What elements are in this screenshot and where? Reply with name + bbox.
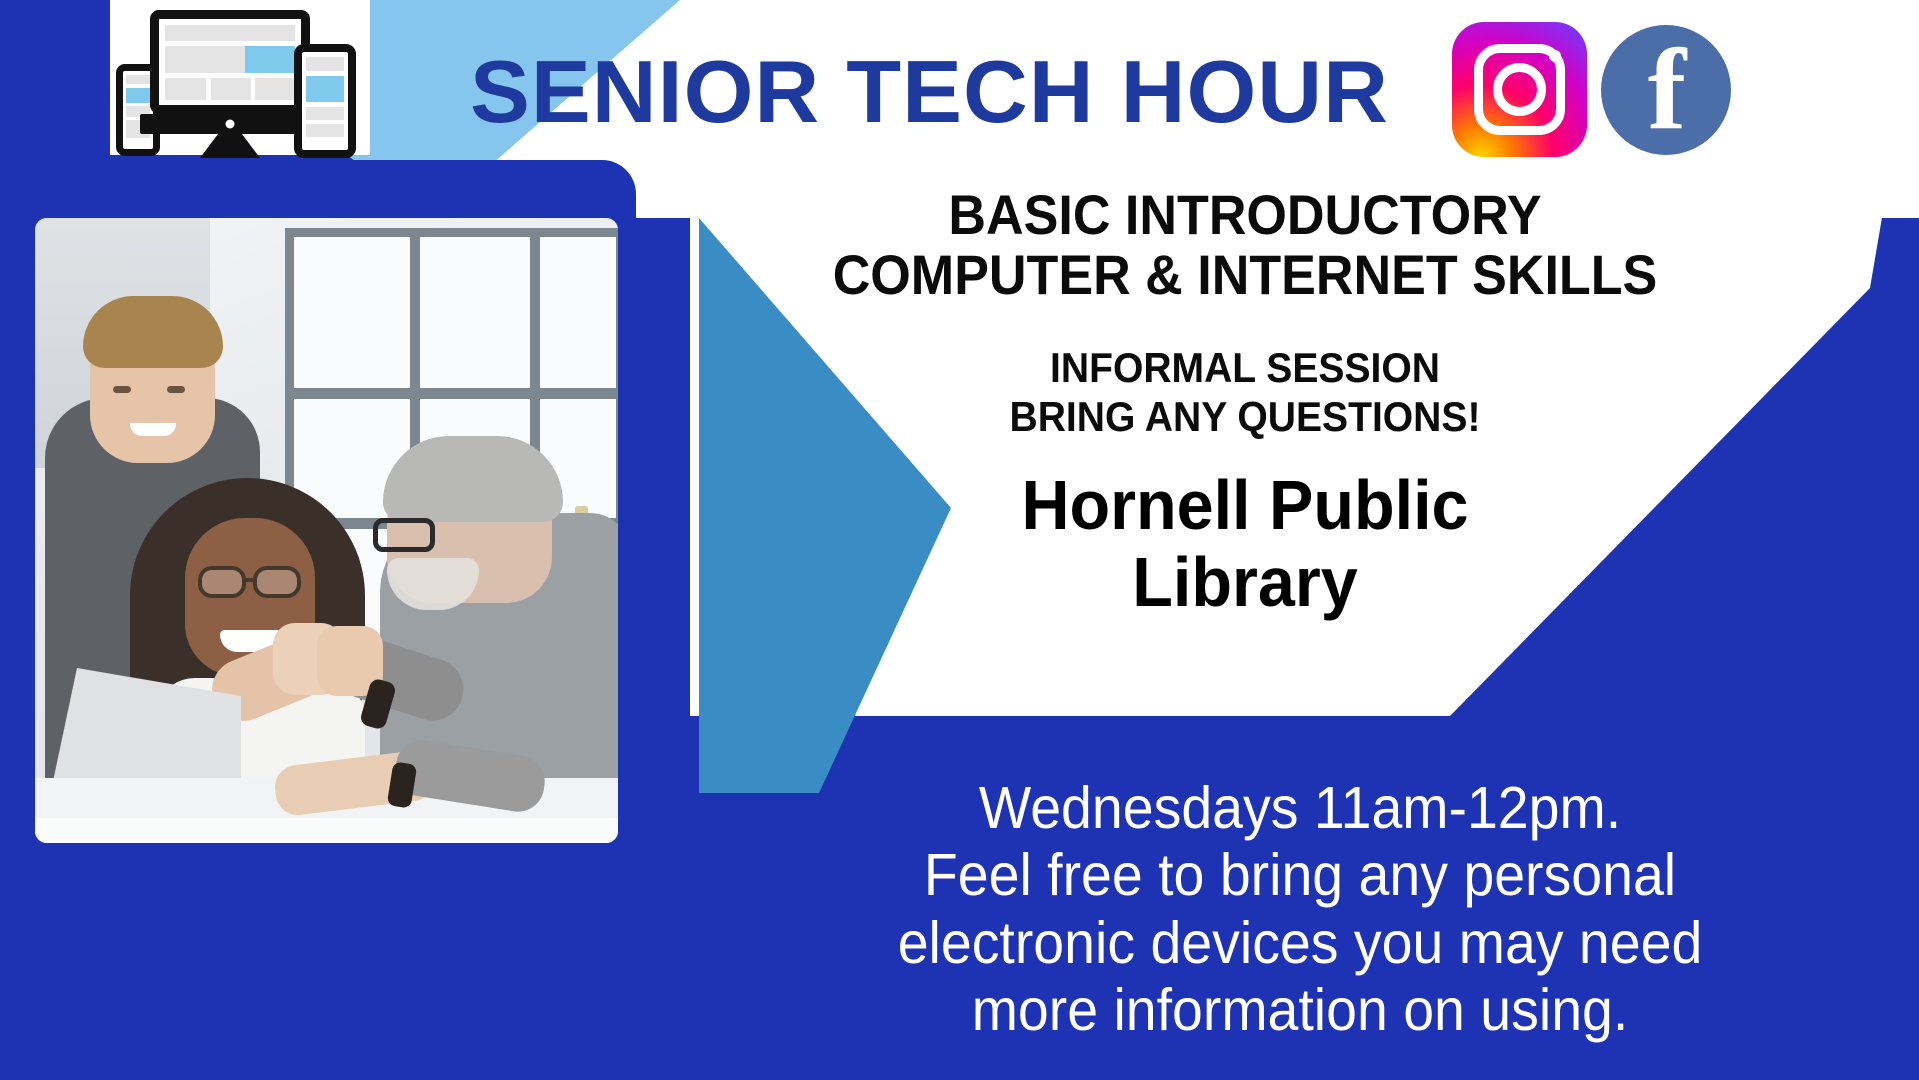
organization-line-1: Hornell Public xyxy=(822,467,1668,544)
footer-line-4: more information on using. xyxy=(736,977,1864,1044)
monitor-icon xyxy=(150,10,310,114)
facebook-f-glyph: f xyxy=(1601,37,1731,141)
footer-line-1: Wednesdays 11am-12pm. xyxy=(736,775,1864,842)
subhead-line-1: INFORMAL SESSION xyxy=(831,344,1659,391)
footer-text-block: Wednesdays 11am-12pm. Feel free to bring… xyxy=(736,775,1864,1044)
monitor-stand xyxy=(200,134,260,158)
instagram-icon[interactable] xyxy=(1452,22,1587,157)
headline-line-1: BASIC INTRODUCTORY xyxy=(831,185,1659,245)
headline-line-2: COMPUTER & INTERNET SKILLS xyxy=(831,245,1659,305)
facebook-icon[interactable]: f xyxy=(1601,25,1731,155)
monitor-base-bar xyxy=(140,114,320,134)
main-text-block: BASIC INTRODUCTORY COMPUTER & INTERNET S… xyxy=(800,185,1690,621)
responsive-devices-icon xyxy=(112,2,370,155)
page-title: SENIOR TECH HOUR xyxy=(470,32,1245,152)
tablet-icon xyxy=(294,44,356,158)
organization-line-2: Library xyxy=(822,544,1668,621)
footer-line-2: Feel free to bring any personal xyxy=(736,842,1864,909)
social-links: f xyxy=(1452,22,1731,157)
flyer-canvas: SENIOR TECH HOUR f xyxy=(0,0,1919,1080)
footer-line-3: electronic devices you may need xyxy=(736,910,1864,977)
photo xyxy=(35,218,618,843)
subhead-line-2: BRING ANY QUESTIONS! xyxy=(831,393,1659,440)
